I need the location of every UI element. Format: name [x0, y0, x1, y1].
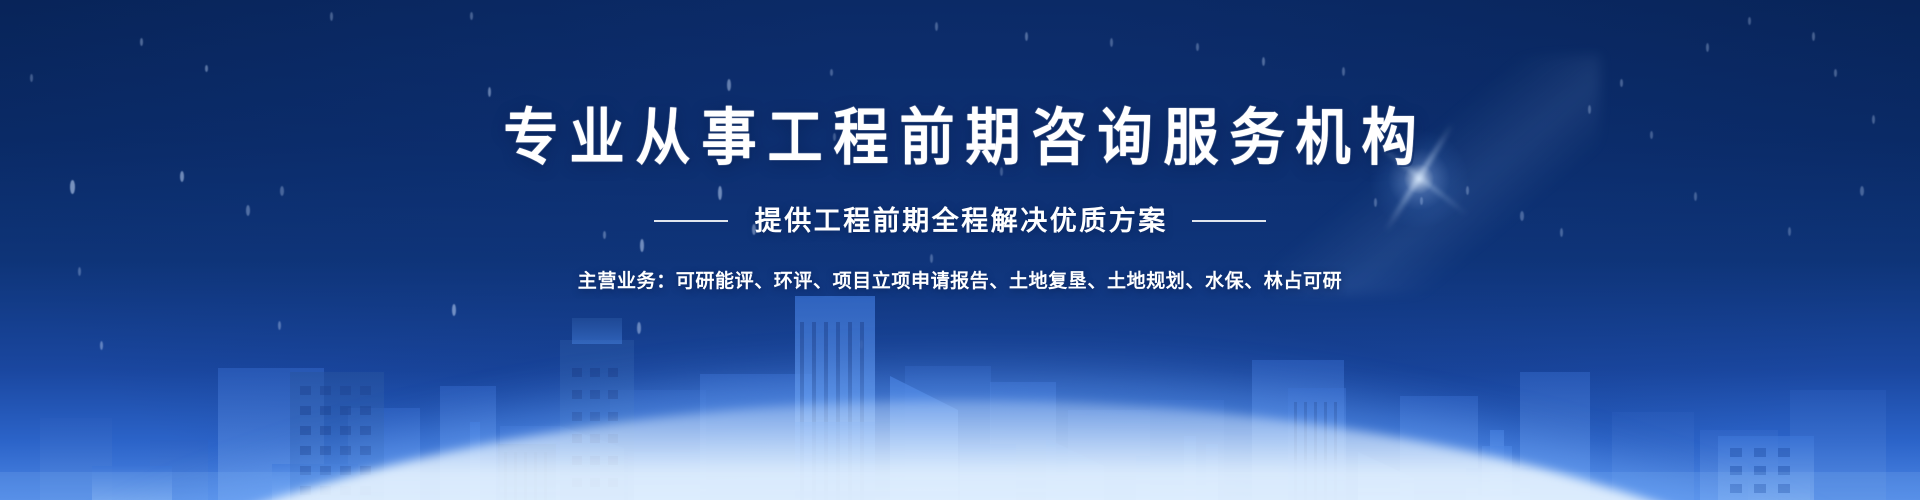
subtitle-rule-left — [654, 220, 728, 222]
subtitle-rule-right — [1192, 220, 1266, 222]
banner-headline: 专业从事工程前期咨询服务机构 — [0, 102, 1920, 171]
banner-content: 专业从事工程前期咨询服务机构 提供工程前期全程解决优质方案 主营业务：可研能评、… — [0, 0, 1920, 500]
banner-subtitle-row: 提供工程前期全程解决优质方案 — [0, 203, 1920, 239]
hero-banner: 专业从事工程前期咨询服务机构 提供工程前期全程解决优质方案 主营业务：可研能评、… — [0, 0, 1920, 500]
banner-subtitle: 提供工程前期全程解决优质方案 — [752, 203, 1168, 239]
banner-services-line: 主营业务：可研能评、环评、项目立项申请报告、土地复垦、土地规划、水保、林占可研 — [0, 268, 1920, 296]
